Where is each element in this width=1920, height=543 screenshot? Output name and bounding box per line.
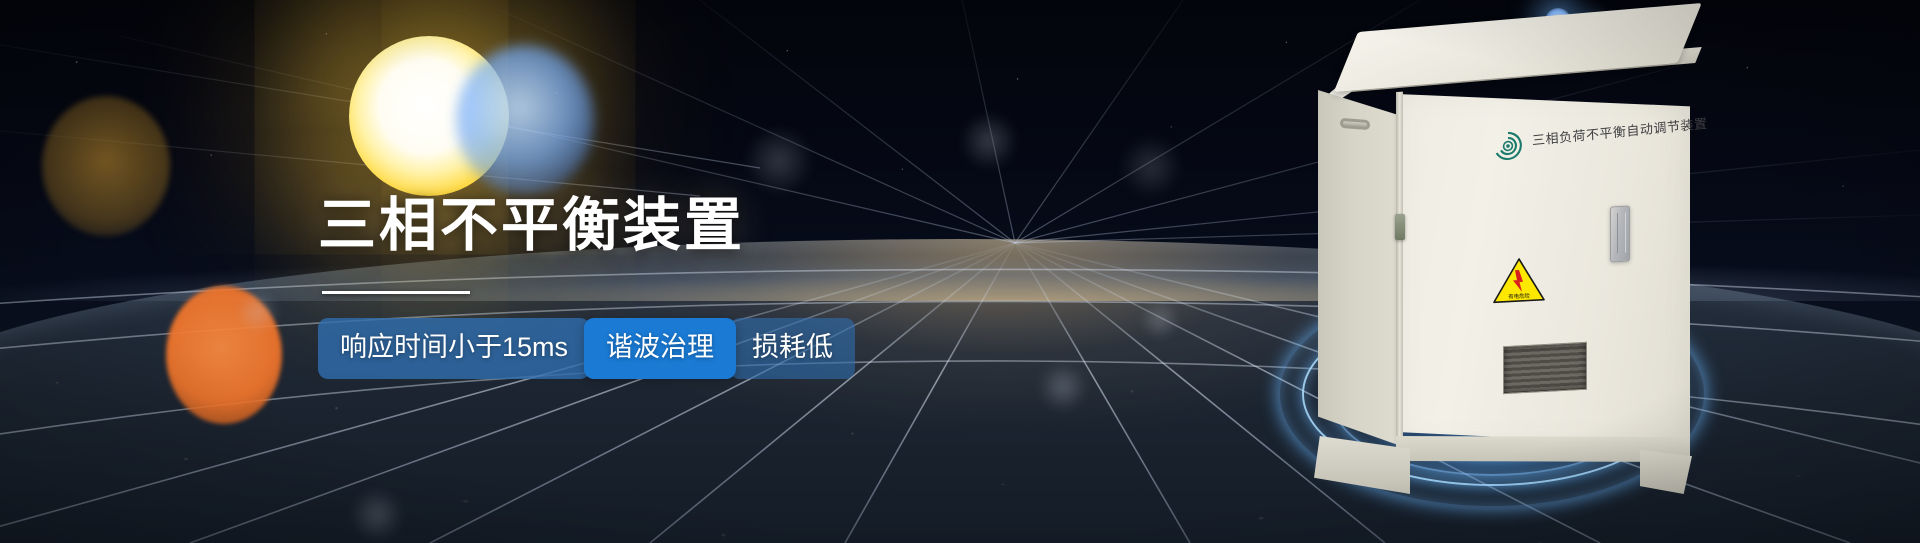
feature-tag-harmonic[interactable]: 谐波治理 — [584, 318, 736, 379]
title-divider — [322, 291, 470, 294]
cabinet-door-seam — [1396, 92, 1403, 450]
cabinet-ventilation-grille — [1503, 342, 1587, 394]
product-cabinet: 三相负荷不平衡自动调节装置 有电危险 — [1300, 18, 1690, 508]
promo-banner: 三相不平衡装置 响应时间小于15ms 谐波治理 损耗低 — [0, 0, 1920, 543]
cabinet-side-panel — [1318, 90, 1398, 445]
cabinet-foot-right — [1640, 450, 1692, 494]
brand-emblem-icon — [1492, 129, 1524, 163]
feature-tag-low-loss[interactable]: 损耗低 — [730, 318, 855, 379]
banner-title: 三相不平衡装置 — [318, 196, 938, 257]
banner-copy: 三相不平衡装置 响应时间小于15ms 谐波治理 损耗低 — [318, 196, 938, 379]
feature-tag-response-time[interactable]: 响应时间小于15ms — [318, 318, 590, 379]
electrical-hazard-warning-icon: 有电危险 — [1492, 255, 1546, 306]
feature-tag-list: 响应时间小于15ms 谐波治理 损耗低 — [318, 318, 938, 379]
cabinet-door-handle[interactable] — [1340, 118, 1370, 130]
cabinet-door-lock[interactable] — [1610, 205, 1630, 262]
cabinet-door-hinge — [1395, 214, 1405, 240]
